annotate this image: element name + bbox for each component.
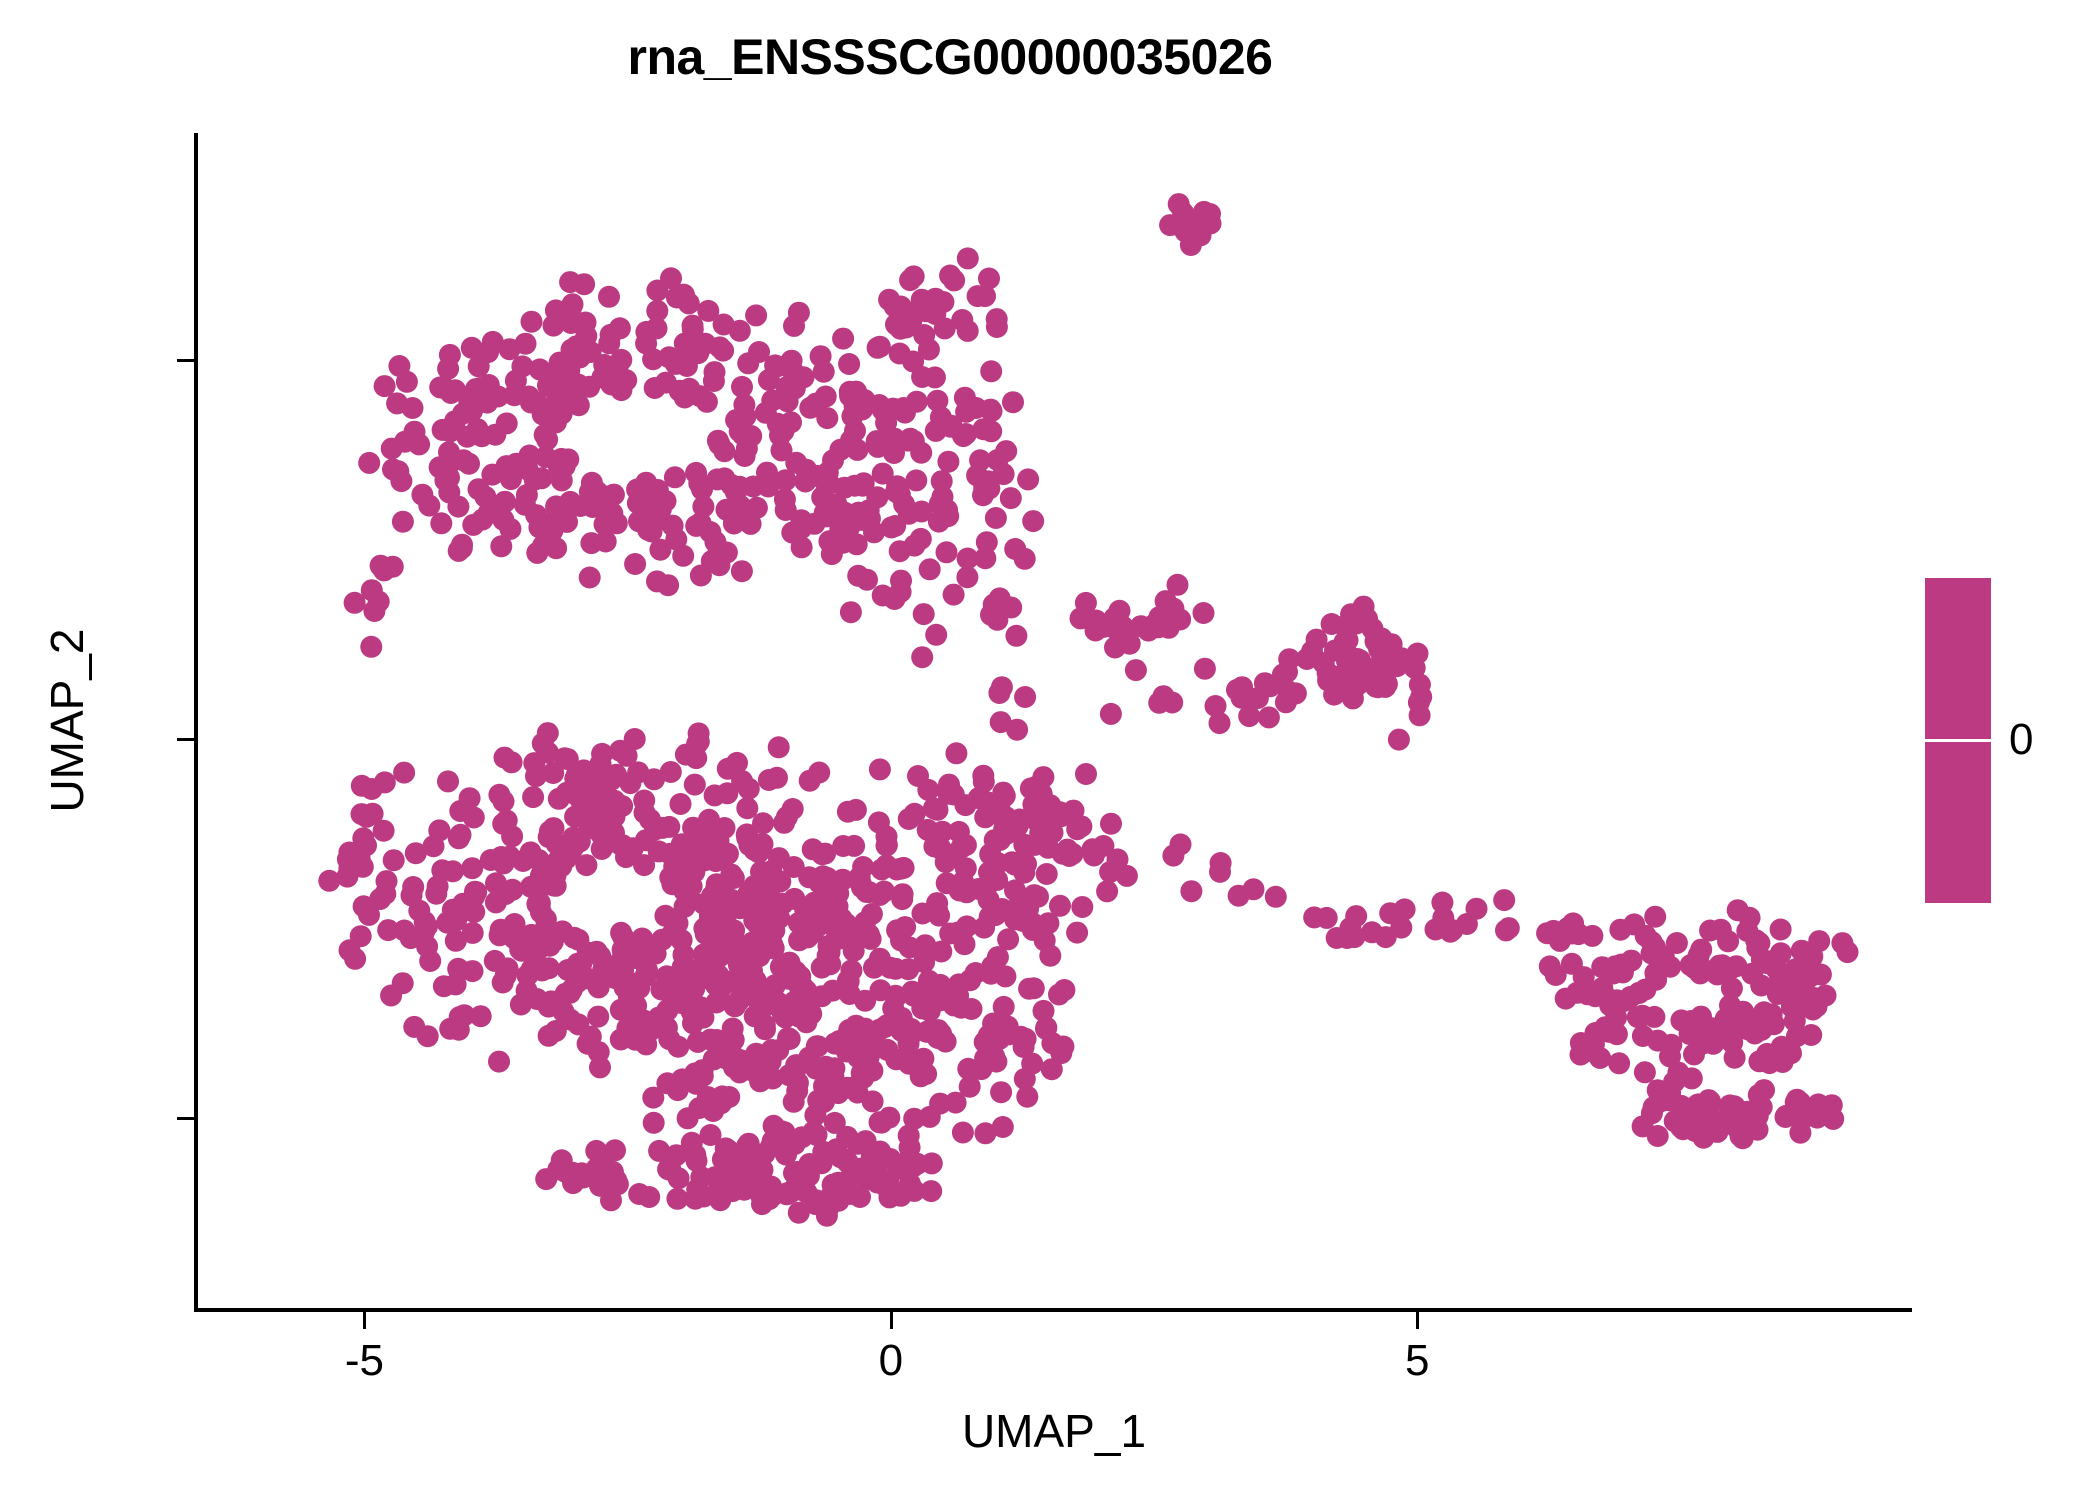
colorbar-tick-gap [1947, 739, 1969, 742]
y-axis-title: UMAP_2 [40, 133, 94, 1308]
x-tick-mark [363, 1312, 366, 1329]
colorbar-tick-label: 0 [2009, 715, 2033, 765]
x-tick-label: 0 [879, 1336, 903, 1386]
x-tick-label: -5 [345, 1336, 384, 1386]
x-tick-mark [1416, 1312, 1419, 1329]
y-tick-mark [177, 359, 194, 362]
y-tick-mark [177, 1117, 194, 1120]
page-title: rna_ENSSSCG00000035026 [0, 28, 1900, 86]
x-tick-mark [890, 1312, 893, 1329]
y-tick-mark [177, 738, 194, 741]
x-axis-title: UMAP_1 [196, 1404, 1912, 1458]
x-tick-label: 5 [1405, 1336, 1429, 1386]
chart-figure: rna_ENSSSCG00000035026 40-4 -505 UMAP_1 … [0, 0, 2100, 1500]
y-axis-line [194, 133, 198, 1311]
plot-panel [196, 133, 1912, 1308]
colorbar-legend: 0 [1925, 578, 1991, 903]
x-axis-line [194, 1308, 1912, 1312]
